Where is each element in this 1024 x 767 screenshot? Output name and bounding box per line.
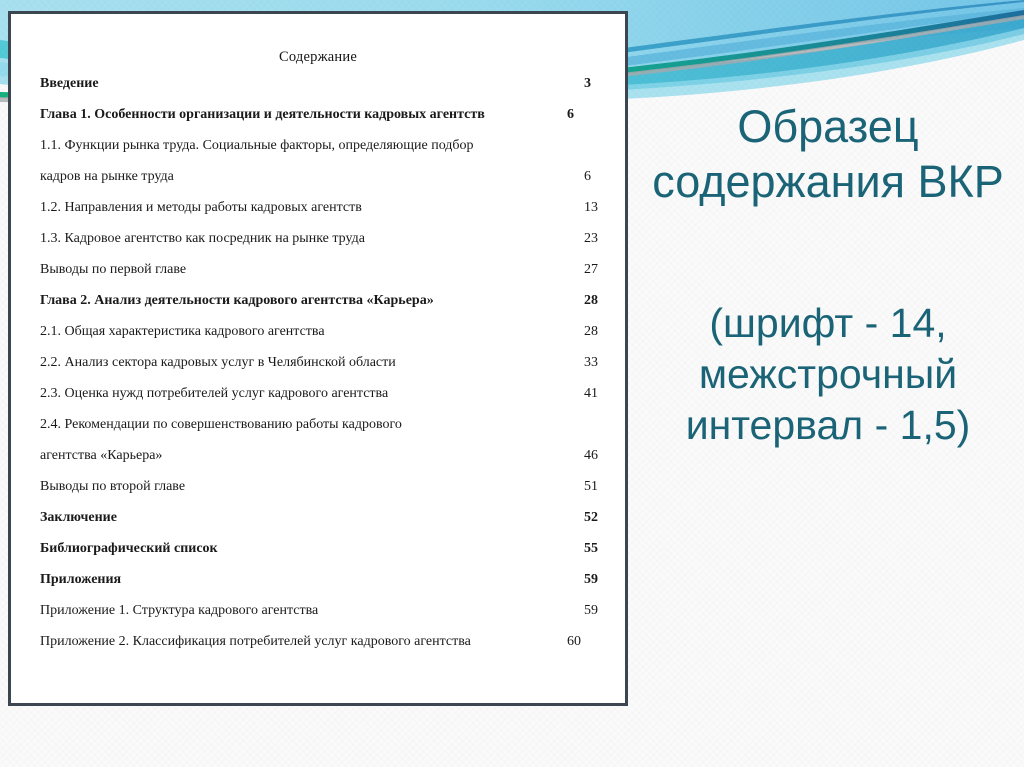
toc-entry-label: агентства «Карьера»: [40, 448, 162, 464]
toc-entry-page: 51: [584, 479, 598, 495]
document-heading: Содержание: [11, 49, 625, 66]
toc-entry: 2.1. Общая характеристика кадрового аген…: [40, 324, 603, 355]
toc-entry-page: 41: [584, 386, 598, 402]
toc-entry-label: 2.3. Оценка нужд потребителей услуг кадр…: [40, 386, 388, 402]
toc-entry-label: Выводы по второй главе: [40, 479, 185, 495]
toc-entry-label: Приложение 1. Структура кадрового агентс…: [40, 603, 318, 619]
toc-entry-label: 2.2. Анализ сектора кадровых услуг в Чел…: [40, 355, 396, 371]
toc-entry: Выводы по первой главе27: [40, 262, 603, 293]
toc-entry-label: 2.4. Рекомендации по совершенствованию р…: [40, 417, 402, 433]
toc-entry-label: кадров на рынке труда: [40, 169, 174, 185]
toc-entry: 1.3. Кадровое агентство как посредник на…: [40, 231, 603, 262]
toc-entry-page: 55: [584, 541, 598, 557]
toc-entry-page: 28: [584, 293, 598, 309]
toc-entry: Приложение 2. Классификация потребителей…: [40, 634, 603, 665]
toc-entry-page: 6: [584, 169, 591, 185]
toc-entry-page: 27: [584, 262, 598, 278]
toc-entry: 1.2. Направления и методы работы кадровы…: [40, 200, 603, 231]
toc-entry-page: 3: [584, 76, 591, 92]
toc-entry: Заключение52: [40, 510, 603, 541]
toc-entry-label: Приложения: [40, 572, 121, 588]
toc-entry: Глава 1. Особенности организации и деяте…: [40, 107, 603, 138]
toc-entry: Введение3: [40, 76, 603, 107]
toc-entry-label: Выводы по первой главе: [40, 262, 186, 278]
toc-entry-page: 59: [584, 572, 598, 588]
toc-entry-page: 23: [584, 231, 598, 247]
toc-entry-label: 2.1. Общая характеристика кадрового аген…: [40, 324, 325, 340]
toc-entry-label: 1.2. Направления и методы работы кадровы…: [40, 200, 362, 216]
slide-title: Образец содержания ВКР: [640, 100, 1016, 210]
toc-entry: Приложения59: [40, 572, 603, 603]
toc-entry: Библиографический список55: [40, 541, 603, 572]
toc-entry: Выводы по второй главе51: [40, 479, 603, 510]
toc-entry-label: Заключение: [40, 510, 117, 526]
toc-entry-page: 33: [584, 355, 598, 371]
toc-entry-label: Глава 2. Анализ деятельности кадрового а…: [40, 293, 434, 309]
toc-entry: 2.3. Оценка нужд потребителей услуг кадр…: [40, 386, 603, 417]
toc-entry-page: 13: [584, 200, 598, 216]
toc-entry: Приложение 1. Структура кадрового агентс…: [40, 603, 603, 634]
toc-entry-label: 1.3. Кадровое агентство как посредник на…: [40, 231, 365, 247]
caption-column: Образец содержания ВКР (шрифт - 14, межс…: [640, 100, 1016, 452]
toc-entry-page: 6: [567, 107, 574, 123]
slide-subtitle: (шрифт - 14, межстрочный интервал - 1,5): [640, 210, 1016, 452]
toc-entry-label: Приложение 2. Классификация потребителей…: [40, 634, 471, 650]
toc-entry: кадров на рынке труда6: [40, 169, 603, 200]
toc-entry-page: 60: [567, 634, 581, 650]
toc-entry-label: Глава 1. Особенности организации и деяте…: [40, 107, 485, 123]
toc-entry: 2.4. Рекомендации по совершенствованию р…: [40, 417, 603, 448]
toc-entry: агентства «Карьера»46: [40, 448, 603, 479]
toc-entry-label: Введение: [40, 76, 99, 92]
toc-entry-label: 1.1. Функции рынка труда. Социальные фак…: [40, 138, 474, 154]
table-of-contents: Введение3Глава 1. Особенности организаци…: [11, 76, 625, 665]
toc-entry-page: 52: [584, 510, 598, 526]
toc-entry: Глава 2. Анализ деятельности кадрового а…: [40, 293, 603, 324]
presentation-slide: Содержание Введение3Глава 1. Особенности…: [0, 0, 1024, 767]
toc-entry-label: Библиографический список: [40, 541, 218, 557]
toc-entry: 1.1. Функции рынка труда. Социальные фак…: [40, 138, 603, 169]
toc-entry-page: 28: [584, 324, 598, 340]
toc-entry-page: 59: [584, 603, 598, 619]
toc-entry: 2.2. Анализ сектора кадровых услуг в Чел…: [40, 355, 603, 386]
document-preview-panel: Содержание Введение3Глава 1. Особенности…: [8, 11, 628, 706]
toc-entry-page: 46: [584, 448, 598, 464]
